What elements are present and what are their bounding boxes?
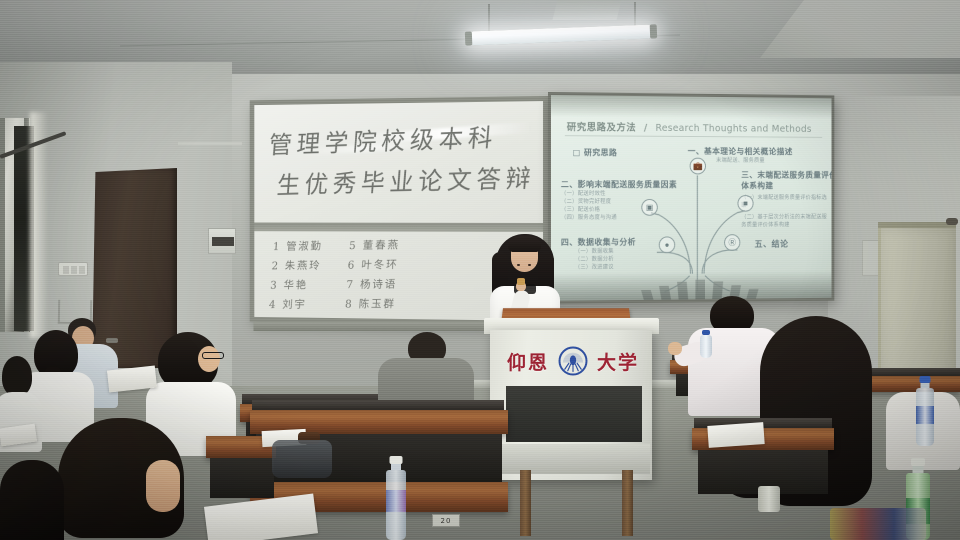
presenter-fringe [508,236,541,252]
bottle-body [700,335,712,358]
bottle-neck [913,466,924,473]
papers-on-desk-right [707,422,764,448]
slide-section-one-heading: 一、基本理论与相关概论描述 [688,146,793,157]
slide-title-separator: / [644,123,648,134]
podium-leg-right [622,470,633,536]
desk-left-foreground-shelf [210,458,274,498]
chart-icon: ● [659,236,675,253]
audience-head [198,346,220,372]
audience-hair [2,356,32,396]
podium-text-right: 大学 [597,348,639,375]
water-bottle-center [386,456,406,540]
projection-screen: 研究思路及方法 / Research Thoughts and Methods … [548,92,834,304]
target-icon: Ⓡ [724,234,740,251]
light-rod-left [488,4,490,32]
slide-title-zh: 研究思路及方法 [567,122,636,133]
water-bottle-right [916,376,934,446]
cabinet-knob [946,218,958,225]
people-icon: ■ [737,195,753,212]
list-item: 5 董春燕 [349,237,401,253]
slide-title: 研究思路及方法 / Research Thoughts and Methods [567,119,812,135]
book-icon: ▣ [641,199,657,216]
podium-leg-left [520,470,531,536]
wall-trim [178,142,242,145]
bottle-cap [390,456,403,464]
list-item: 2 朱燕玲 [271,257,322,273]
podium-shelf-cavity [506,386,642,442]
whiteboard-name-column-right: 5 董春燕 6 叶冬环 7 杨诗语 8 陈玉群 [345,237,401,312]
list-item: 3 华艳 [270,277,321,293]
bottle-label [386,490,406,512]
colorful-items-bottom-right [830,508,926,540]
list-item: 7 杨诗语 [346,276,398,292]
whiteboard-name-column-left: 1 管淑勤 2 朱燕玲 3 华艳 4 刘宇 [268,238,323,312]
whiteboard-title-line2: 生优秀毕业论文答辩 [275,158,541,207]
slide-top-shading [551,95,832,120]
slide-title-rule [565,135,822,138]
ceiling-vent [553,0,622,20]
slide-section-four: 四、数据收集与分析 （一）数据收集 （二）数据分析 （三）改进建议 [561,237,636,272]
glasses-icon [202,352,224,359]
list-item: 4 刘宇 [268,296,319,312]
bottle-label [916,406,934,424]
audience-member [58,418,208,540]
podium-branding: 仰恩 大学 [498,340,648,382]
whiteboard-title: 管理学院校级本科 生优秀毕业论文答辩 [264,115,544,206]
desk-number-plate: 20 [432,514,460,527]
slide-sub-item: （三）改进建议 [561,263,636,272]
university-seal-logo [558,346,588,376]
classroom-photo: 管理学院校级本科 生优秀毕业论文答辩 1 管淑勤 2 朱燕玲 3 华艳 4 刘宇… [0,0,960,540]
briefcase-icon: 💼 [690,158,706,175]
desk-foreground-rail [252,400,504,410]
list-item: 8 陈玉群 [345,296,397,312]
whiteboard-title-line1: 管理学院校级本科 [268,123,499,159]
audience-hand [668,342,682,355]
air-vent-icon [208,228,236,254]
slide-bullet-research-approach: 研究思路 [573,147,618,158]
list-item: 1 管淑勤 [272,238,323,254]
bottle-cap [911,458,925,466]
audience-member [0,460,70,540]
presentation-slide: 研究思路及方法 / Research Thoughts and Methods … [551,95,832,301]
audience-hair [0,460,64,540]
podium-text-left: 仰恩 [507,348,549,375]
slide-title-en: Research Thoughts and Methods [656,123,812,135]
cup-under-desk [758,486,780,512]
slide-bullet-label: 研究思路 [573,147,618,158]
microphone-icon [517,278,525,285]
audience-head [146,460,180,512]
bag-under-desk [272,440,332,478]
light-switch-plate[interactable] [58,262,88,276]
list-item: 6 叶冬环 [347,256,399,272]
water-bottle-far-right [700,330,712,358]
bottle-cap [920,376,931,383]
slide-section-four-heading: 四、数据收集与分析 [561,237,636,248]
